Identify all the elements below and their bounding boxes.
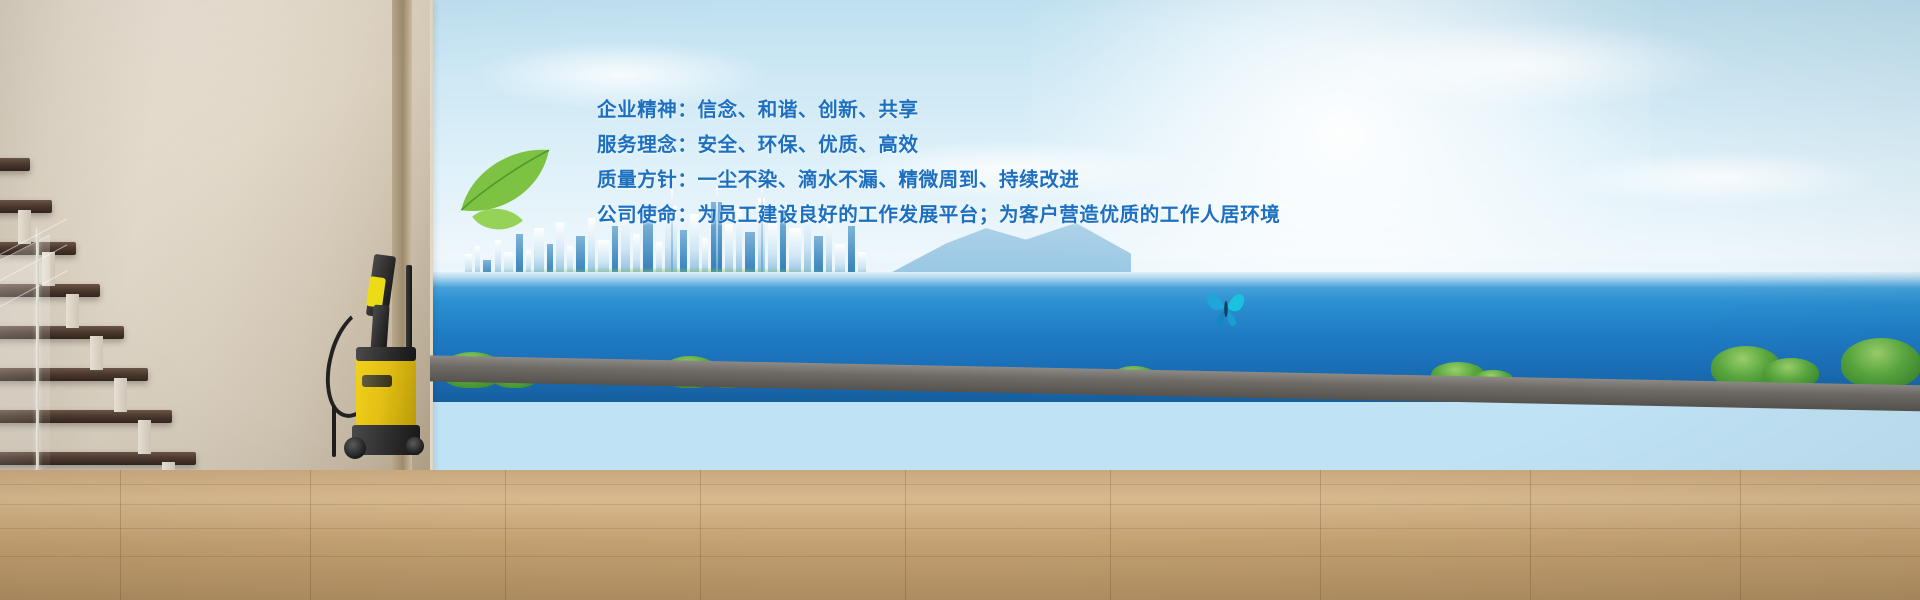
mission-text-block: 企业精神：信念、和谐、创新、共享 服务理念：安全、环保、优质、高效 质量方针：一…	[597, 92, 1297, 232]
mission-line-service: 服务理念：安全、环保、优质、高效	[597, 127, 1297, 162]
washer-hose-tail	[332, 405, 336, 457]
stair-riser	[138, 420, 151, 454]
pressure-washer	[310, 255, 430, 465]
sea-shimmer	[411, 272, 1920, 288]
stair-riser	[90, 336, 103, 370]
stair-riser	[66, 294, 79, 328]
washer-wheel	[344, 437, 366, 459]
floor-plank-pattern	[0, 470, 1920, 600]
wood-floor	[0, 470, 1920, 600]
washer-body-top	[356, 347, 416, 361]
cloud	[1561, 150, 1881, 206]
washer-control-panel	[362, 375, 392, 387]
mission-line-mission: 公司使命：为员工建设良好的工作发展平台；为客户营造优质的工作人居环境	[597, 197, 1297, 232]
handrail-post	[36, 228, 39, 488]
mission-line-spirit: 企业精神：信念、和谐、创新、共享	[597, 92, 1297, 127]
staircase	[0, 150, 224, 480]
cloud	[1311, 20, 1731, 110]
washer-wheel	[406, 437, 424, 455]
washer-body	[356, 353, 416, 431]
stair-tread	[0, 158, 30, 171]
stair-riser	[114, 378, 127, 412]
glass-balustrade	[0, 234, 50, 499]
promo-banner: 企业精神：信念、和谐、创新、共享 服务理念：安全、环保、优质、高效 质量方针：一…	[0, 0, 1920, 600]
mission-line-quality: 质量方针：一尘不染、滴水不漏、精微周到、持续改进	[597, 162, 1297, 197]
